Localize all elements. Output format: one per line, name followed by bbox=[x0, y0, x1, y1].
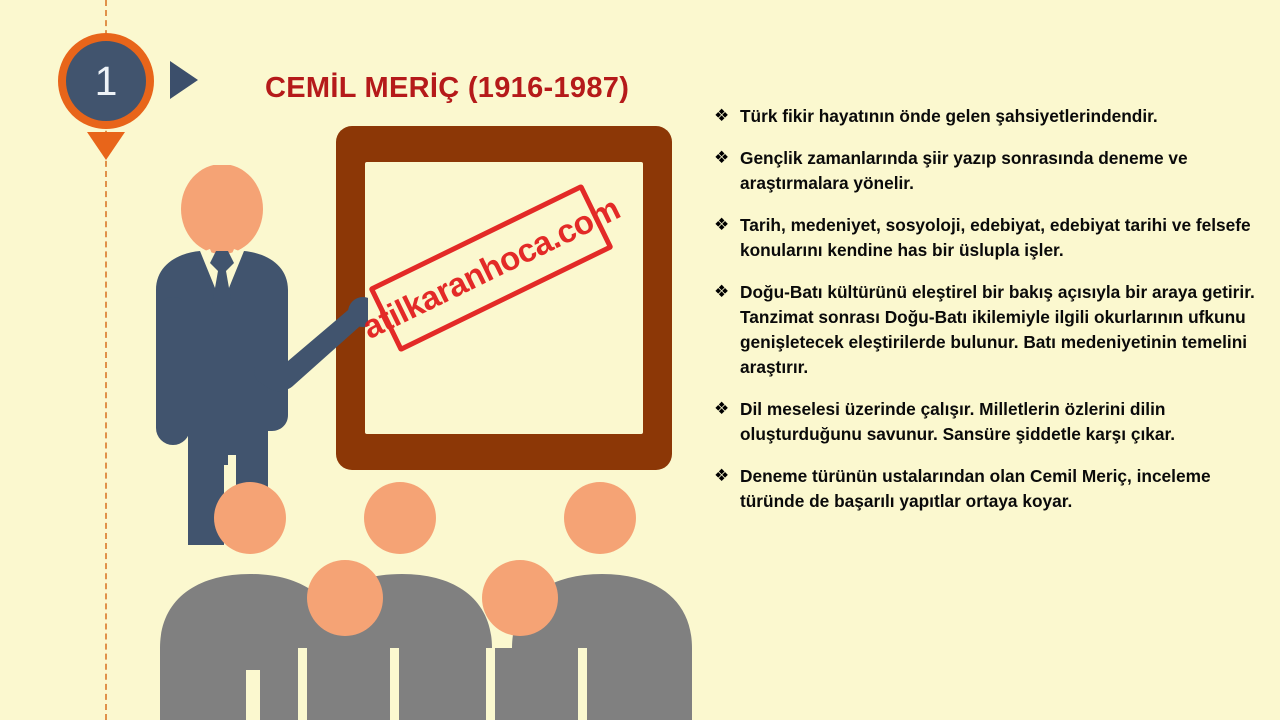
bullet-diamond-icon: ❖ bbox=[714, 280, 740, 304]
page-title: CEMİL MERİÇ (1916-1987) bbox=[265, 72, 629, 105]
list-item-text: Gençlik zamanlarında şiir yazıp sonrasın… bbox=[740, 146, 1260, 196]
audience-head-front-1 bbox=[482, 560, 558, 636]
list-item: ❖ Deneme türünün ustalarından olan Cemil… bbox=[714, 464, 1260, 514]
teacher-left-arm bbox=[156, 297, 190, 445]
list-item: ❖ Gençlik zamanlarında şiir yazıp sonras… bbox=[714, 146, 1260, 196]
list-item-text: Tarih, medeniyet, sosyoloji, edebiyat, e… bbox=[740, 213, 1260, 263]
list-item-text: Doğu-Batı kültürünü eleştirel bir bakış … bbox=[740, 280, 1260, 380]
list-item: ❖ Doğu-Batı kültürünü eleştirel bir bakı… bbox=[714, 280, 1260, 380]
list-item-text: Deneme türünün ustalarından olan Cemil M… bbox=[740, 464, 1260, 514]
teacher-head bbox=[181, 165, 263, 254]
step-pointer-triangle-icon bbox=[87, 132, 125, 160]
list-item: ❖ Tarih, medeniyet, sosyoloji, edebiyat,… bbox=[714, 213, 1260, 263]
list-item-text: Dil meselesi üzerinde çalışır. Milletler… bbox=[740, 397, 1260, 447]
list-item-text: Türk fikir hayatının önde gelen şahsiyet… bbox=[740, 104, 1260, 129]
audience-front-row-overflow bbox=[262, 648, 622, 720]
list-item: ❖ Dil meselesi üzerinde çalışır. Milletl… bbox=[714, 397, 1260, 447]
bullet-diamond-icon: ❖ bbox=[714, 213, 740, 237]
play-triangle-icon bbox=[170, 61, 198, 99]
bullet-diamond-icon: ❖ bbox=[714, 464, 740, 488]
bullet-list: ❖ Türk fikir hayatının önde gelen şahsiy… bbox=[714, 104, 1260, 531]
bullet-diamond-icon: ❖ bbox=[714, 104, 740, 128]
audience-head-back-0 bbox=[214, 482, 286, 554]
audience-head-back-2 bbox=[564, 482, 636, 554]
bullet-diamond-icon: ❖ bbox=[714, 397, 740, 421]
step-number-value: 1 bbox=[95, 61, 118, 102]
bullet-diamond-icon: ❖ bbox=[714, 146, 740, 170]
audience-head-front-0 bbox=[307, 560, 383, 636]
slide-canvas: atilkaranhoca.com bbox=[0, 0, 1280, 720]
step-number-badge[interactable]: 1 bbox=[58, 33, 154, 129]
audience-head-back-1 bbox=[364, 482, 436, 554]
list-item: ❖ Türk fikir hayatının önde gelen şahsiy… bbox=[714, 104, 1260, 129]
